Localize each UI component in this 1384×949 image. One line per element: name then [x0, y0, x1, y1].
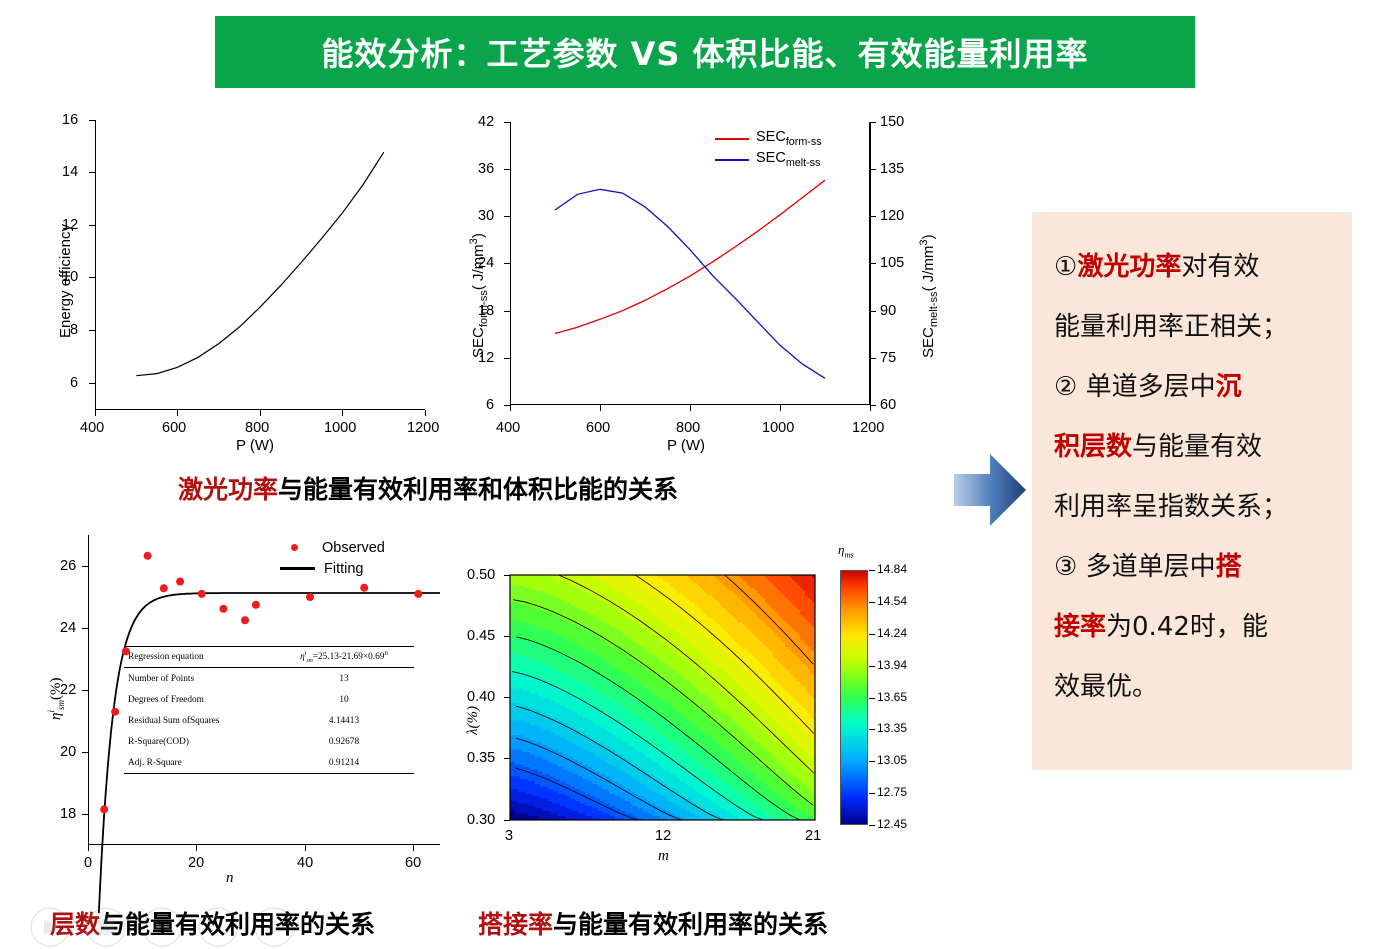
scatter-point: [160, 584, 168, 592]
conclusion-text: 对有效: [1181, 252, 1259, 282]
chart4-ytick-045: 0.45: [467, 628, 495, 644]
regression-stats-table: Regression equation ηism=25.13-21.69×0.6…: [124, 646, 414, 774]
table-row: Degrees of Freedom 10: [124, 689, 414, 710]
caption-br-highlight: 搭接率: [478, 910, 553, 939]
conclusion-panel: ①激光功率对有效能量利用率正相关；② 单道多层中沉积层数与能量有效利用率呈指数关…: [1032, 212, 1352, 770]
watermark-icons: [28, 905, 328, 949]
conclusion-marker: ③: [1054, 552, 1077, 582]
stats-key: Number of Points: [128, 674, 278, 684]
table-row: Adj. R-Square 0.91214: [124, 752, 414, 773]
slide-title-text: 能效分析：工艺参数 VS 体积比能、有效能量利用率: [321, 29, 1088, 75]
colorbar-tickmark: [869, 761, 875, 762]
colorbar-tick: 13.35: [877, 721, 907, 735]
colorbar-tick: 13.94: [877, 658, 907, 672]
conclusion-text: 单道多层中: [1077, 372, 1215, 402]
conclusion-line: ② 单道多层中沉: [1054, 360, 1330, 414]
contour-heatmap: [455, 540, 905, 890]
conclusion-text: 多道单层中: [1077, 552, 1215, 582]
conclusion-text: 能量利用率正相关；: [1054, 312, 1288, 342]
colorbar-tickmark: [869, 698, 875, 699]
stats-value: 0.91214: [278, 758, 410, 768]
scatter-point: [176, 578, 184, 586]
colorbar-tick: 13.05: [877, 753, 907, 767]
conclusion-line: ③ 多道单层中搭: [1054, 540, 1330, 594]
stats-key: Degrees of Freedom: [128, 695, 278, 705]
conclusion-text: 效最优。: [1054, 672, 1158, 702]
conclusion-line: 能量利用率正相关；: [1054, 300, 1330, 354]
conclusion-marker: ①: [1054, 252, 1077, 282]
conclusion-text: 利用率呈指数关系；: [1054, 492, 1288, 522]
chart-sec: 42 36 30 24 18 12 6 150 135 120 105 90 7…: [450, 110, 920, 450]
colorbar-tickmark: [869, 666, 875, 667]
scatter-point: [144, 552, 152, 560]
colorbar-tickmark: [869, 793, 875, 794]
chart1-line: [40, 110, 440, 450]
chart4-xlabel: m: [658, 848, 669, 865]
scatter-point: [360, 584, 368, 592]
colorbar-tick: 13.65: [877, 690, 907, 704]
stats-value: 10: [278, 695, 410, 705]
scatter-point: [100, 805, 108, 813]
chart-contour: 0.50 0.45 0.40 0.35 0.30 3 12 21 m λ(%) …: [455, 540, 905, 890]
scatter-point: [414, 590, 422, 598]
scatter-point: [198, 590, 206, 598]
chart4-xtick-21: 21: [805, 828, 821, 844]
conclusion-highlight: 积层数: [1054, 432, 1132, 462]
colorbar-tick: 14.24: [877, 626, 907, 640]
conclusion-text: 为0.42时，能: [1106, 612, 1268, 642]
chart2-ylabel-right: SECmelt-ss( J/mm3): [918, 234, 940, 358]
colorbar-tick: 14.54: [877, 594, 907, 608]
table-row: R-Square(COD) 0.92678: [124, 731, 414, 752]
conclusion-highlight: 沉: [1216, 372, 1242, 402]
caption-top-rest: 与能量有效利用率和体积比能的关系: [278, 475, 678, 504]
caption-top-highlight: 激光功率: [178, 475, 278, 504]
stats-value: 13: [278, 674, 410, 684]
chart4-ytick-050: 0.50: [467, 567, 495, 583]
colorbar-tickmark: [869, 825, 875, 826]
conclusion-text: 与能量有效: [1132, 432, 1262, 462]
colorbar-tick: 14.84: [877, 562, 907, 576]
caption-laser-power: 激光功率与能量有效利用率和体积比能的关系: [178, 470, 678, 506]
scatter-point: [241, 616, 249, 624]
colorbar-tickmark: [869, 570, 875, 571]
colorbar-tick: 12.45: [877, 817, 907, 831]
chart-energy-efficiency: 16 14 12 10 8 6 400 600 800 1000 1200 P …: [40, 110, 440, 450]
scatter-point: [306, 593, 314, 601]
stats-key: Adj. R-Square: [128, 758, 278, 768]
colorbar-tickmark: [869, 602, 875, 603]
table-row: Residual Sum ofSquares 4.14413: [124, 710, 414, 731]
caption-overlap-rate: 搭接率与能量有效利用率的关系: [478, 905, 828, 941]
chart4-xtick-12: 12: [655, 828, 671, 844]
conclusion-line: ①激光功率对有效: [1054, 240, 1330, 294]
scatter-point: [219, 605, 227, 613]
chart4-xtick-3: 3: [505, 828, 513, 844]
chart4-ytick-040: 0.40: [467, 689, 495, 705]
stats-value: 4.14413: [278, 716, 410, 726]
colorbar-title: ηms: [838, 542, 854, 560]
chart4-ytick-030: 0.30: [467, 812, 495, 828]
table-row: Number of Points 13: [124, 668, 414, 689]
conclusion-line: 积层数与能量有效: [1054, 420, 1330, 474]
colorbar-tickmark: [869, 634, 875, 635]
stats-key: Regression equation: [128, 652, 278, 662]
conclusion-line: 效最优。: [1054, 660, 1330, 714]
chart4-ylabel: λ(%): [465, 706, 482, 735]
scatter-point: [111, 708, 119, 716]
colorbar-tickmark: [869, 729, 875, 730]
chart2-lines: [450, 110, 920, 450]
table-row: Regression equation ηism=25.13-21.69×0.6…: [124, 647, 414, 668]
conclusion-marker: ②: [1054, 372, 1077, 402]
scatter-point: [252, 601, 260, 609]
caption-br-rest: 与能量有效利用率的关系: [553, 910, 828, 939]
stats-key: Residual Sum ofSquares: [128, 716, 278, 726]
stats-value: 0.92678: [278, 737, 410, 747]
conclusion-highlight: 接率: [1054, 612, 1106, 642]
colorbar-tick: 12.75: [877, 785, 907, 799]
contour-colorbar: [840, 570, 868, 825]
slide-title-banner: 能效分析：工艺参数 VS 体积比能、有效能量利用率: [215, 16, 1195, 88]
regression-equation-value: =25.13-21.69×0.69: [313, 652, 385, 662]
conclusion-line: 利用率呈指数关系；: [1054, 480, 1330, 534]
conclusion-line: 接率为0.42时，能: [1054, 600, 1330, 654]
stats-key: R-Square(COD): [128, 737, 278, 747]
stats-value: ηism=25.13-21.69×0.69n: [278, 650, 410, 664]
chart4-ytick-035: 0.35: [467, 750, 495, 766]
conclusion-highlight: 搭: [1216, 552, 1242, 582]
right-arrow-icon: [952, 446, 1028, 534]
conclusion-highlight: 激光功率: [1077, 252, 1181, 282]
